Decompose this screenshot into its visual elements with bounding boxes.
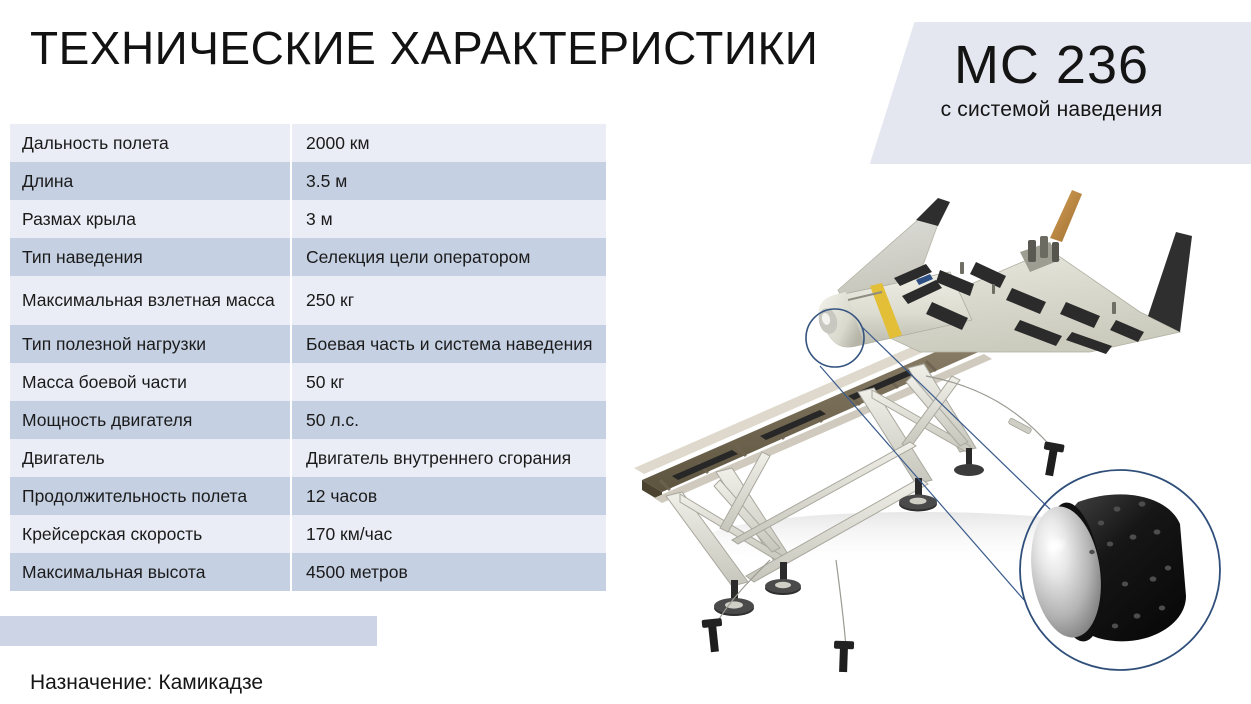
spec-name: Длина xyxy=(10,162,291,200)
spec-value: 3.5 м xyxy=(291,162,606,200)
spec-value: 50 л.с. xyxy=(291,401,606,439)
spec-name: Двигатель xyxy=(10,439,291,477)
purpose-caption: Назначение: Камикадзе xyxy=(30,671,263,695)
model-badge: МС 236 с системой наведения xyxy=(862,22,1251,164)
slide-canvas: ТЕХНИЧЕСКИЕ ХАРАКТЕРИСТИКИ МС 236 с сист… xyxy=(0,0,1251,704)
specifications-table-body: Дальность полета 2000 км Длина 3.5 м Раз… xyxy=(10,124,606,591)
uav-fin-right xyxy=(1148,232,1192,332)
table-row: Максимальная взлетная масса 250 кг xyxy=(10,276,606,325)
spec-name: Мощность двигателя xyxy=(10,401,291,439)
uav-airframe xyxy=(816,190,1192,354)
table-row: Продолжительность полета 12 часов xyxy=(10,477,606,515)
page-title: ТЕХНИЧЕСКИЕ ХАРАКТЕРИСТИКИ xyxy=(30,24,818,72)
seeker-head xyxy=(1023,494,1186,645)
seeker-detail-callout xyxy=(1020,470,1220,670)
table-row: Максимальная высота 4500 метров xyxy=(10,553,606,591)
table-row: Размах крыла 3 м xyxy=(10,200,606,238)
model-badge-inner: МС 236 с системой наведения xyxy=(862,22,1241,122)
spec-value: 170 км/час xyxy=(291,515,606,553)
spec-name: Тип полезной нагрузки xyxy=(10,325,291,363)
model-number: МС 236 xyxy=(862,36,1241,94)
spec-name: Продолжительность полета xyxy=(10,477,291,515)
table-row: Масса боевой части 50 кг xyxy=(10,363,606,401)
table-footer-bar xyxy=(0,616,377,646)
spec-name: Размах крыла xyxy=(10,200,291,238)
spec-value: Двигатель внутреннего сгорания xyxy=(291,439,606,477)
uav-illustration xyxy=(620,180,1251,680)
table-row: Дальность полета 2000 км xyxy=(10,124,606,162)
spec-name: Дальность полета xyxy=(10,124,291,162)
table-row: Крейсерская скорость 170 км/час xyxy=(10,515,606,553)
model-subtitle: с системой наведения xyxy=(862,98,1241,122)
spec-value: 50 кг xyxy=(291,363,606,401)
spec-name: Масса боевой части xyxy=(10,363,291,401)
spec-value: 4500 метров xyxy=(291,553,606,591)
spec-name: Максимальная высота xyxy=(10,553,291,591)
spec-value: 2000 км xyxy=(291,124,606,162)
spec-value: 3 м xyxy=(291,200,606,238)
spec-value: 12 часов xyxy=(291,477,606,515)
spec-value: 250 кг xyxy=(291,276,606,325)
spec-name: Крейсерская скорость xyxy=(10,515,291,553)
uav-propeller xyxy=(1050,190,1082,242)
spec-name: Тип наведения xyxy=(10,238,291,276)
table-row: Тип полезной нагрузки Боевая часть и сис… xyxy=(10,325,606,363)
table-row: Тип наведения Селекция цели оператором xyxy=(10,238,606,276)
table-row: Мощность двигателя 50 л.с. xyxy=(10,401,606,439)
table-row: Двигатель Двигатель внутреннего сгорания xyxy=(10,439,606,477)
spec-name: Максимальная взлетная масса xyxy=(10,276,291,325)
table-row: Длина 3.5 м xyxy=(10,162,606,200)
specifications-table: Дальность полета 2000 км Длина 3.5 м Раз… xyxy=(10,124,606,591)
spec-value: Боевая часть и система наведения xyxy=(291,325,606,363)
spec-value: Селекция цели оператором xyxy=(291,238,606,276)
